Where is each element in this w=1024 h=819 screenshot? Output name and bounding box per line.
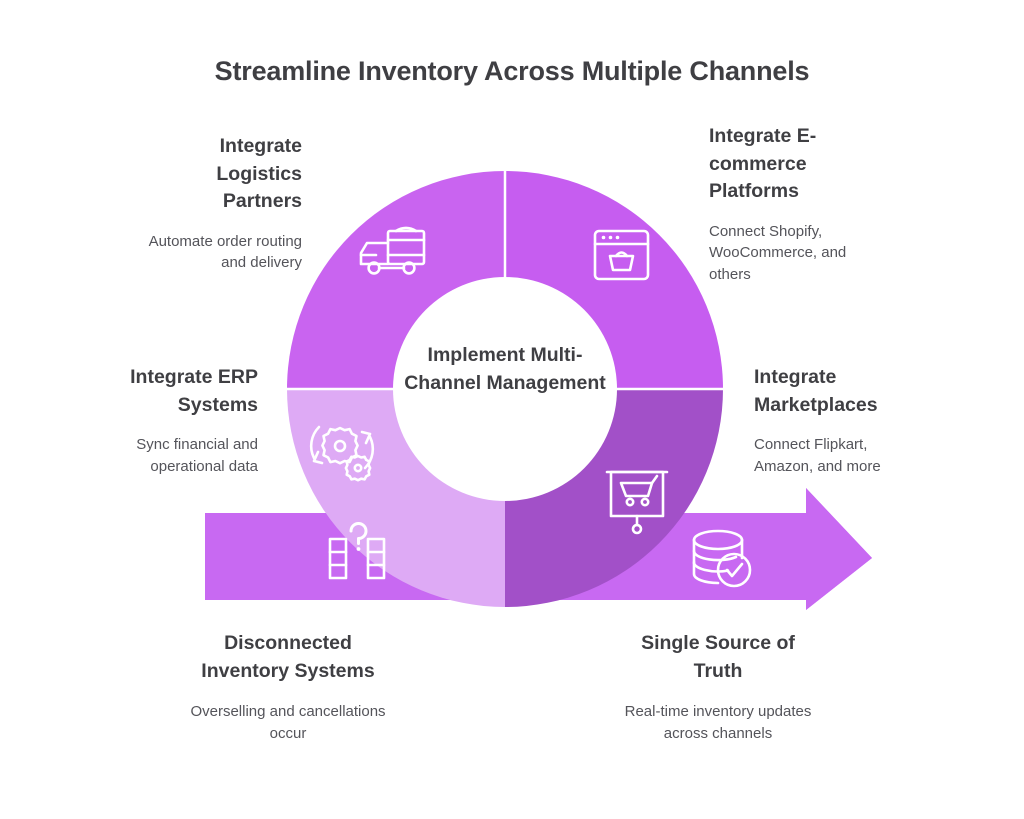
delivery-truck-icon xyxy=(361,228,424,273)
segment-description-ecommerce: Connect Shopify, WooCommerce, and others xyxy=(709,221,887,285)
browser-shopping-basket-icon xyxy=(595,231,648,279)
segment-label-single-source-of-truth: Single Source of Truth Real-time invento… xyxy=(615,630,821,744)
boxes-question-icon xyxy=(330,524,384,579)
segment-label-marketplaces: Integrate Marketplaces Connect Flipkart,… xyxy=(754,364,922,477)
segment-description-logistics: Automate order routing and delivery xyxy=(146,231,302,274)
gears-sync-icon xyxy=(311,427,373,480)
segment-description-single-source-of-truth: Real-time inventory updates across chann… xyxy=(615,701,821,744)
segment-label-ecommerce: Integrate E-commerce Platforms Connect S… xyxy=(709,123,887,285)
segment-description-marketplaces: Connect Flipkart, Amazon, and more xyxy=(754,434,922,477)
segment-description-disconnected: Overselling and cancellations occur xyxy=(182,701,394,744)
segment-description-erp: Sync financial and operational data xyxy=(100,434,258,477)
segment-label-erp: Integrate ERP Systems Sync financial and… xyxy=(100,364,258,477)
segment-heading-logistics: Integrate Logistics Partners xyxy=(146,133,302,216)
center-label: Implement Multi-Channel Management xyxy=(392,341,618,398)
presentation-cart-icon xyxy=(607,472,667,533)
segment-heading-marketplaces: Integrate Marketplaces xyxy=(754,364,922,419)
segment-heading-disconnected: Disconnected Inventory Systems xyxy=(182,630,394,685)
segment-heading-erp: Integrate ERP Systems xyxy=(100,364,258,419)
segment-label-disconnected: Disconnected Inventory Systems Overselli… xyxy=(182,630,394,744)
segment-label-logistics: Integrate Logistics Partners Automate or… xyxy=(146,133,302,274)
infographic-canvas: Streamline Inventory Across Multiple Cha… xyxy=(0,0,1024,819)
segment-heading-ecommerce: Integrate E-commerce Platforms xyxy=(709,123,887,206)
database-check-icon xyxy=(694,531,750,586)
segment-heading-single-source-of-truth: Single Source of Truth xyxy=(615,630,821,685)
